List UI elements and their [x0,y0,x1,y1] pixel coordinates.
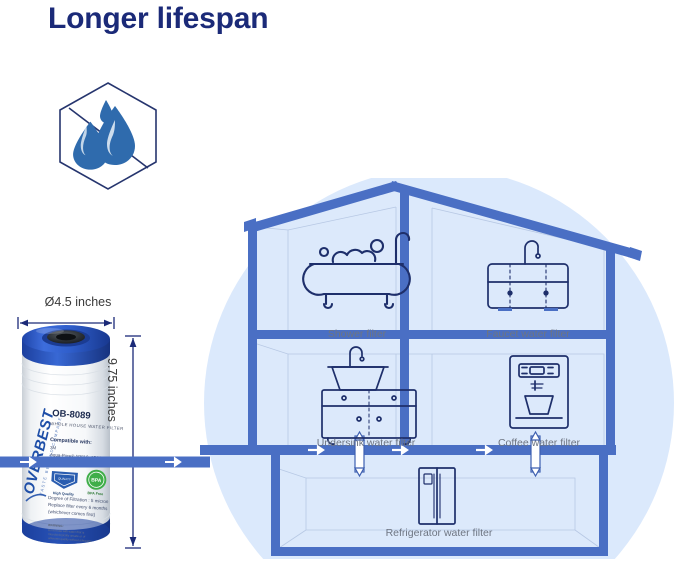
height-dimension-arrow [125,336,141,548]
diameter-label: Ø4.5 inches [18,295,138,309]
filter-cartridge-block: Ø4.5 inches 9.75 inches [0,295,175,559]
infographic-canvas: Longer lifespan Ø4.5 inches 9.75 inches [0,0,679,559]
height-label: 9.75 inches [105,358,119,422]
room-label-refrigerator: Refrigerator water filter [386,527,493,539]
room-label-undersink: Undersink water filter [317,437,416,449]
water-supply-pipe-left [0,455,210,469]
cartridge-cap [22,325,110,366]
water-drop-hexagon-icon [55,80,161,192]
page-title: Longer lifespan [48,2,268,36]
room-label-faucet: Faucet water filter [486,328,570,340]
room-label-coffee: Coffee water filter [498,437,581,449]
bpa-badge-mark: BPA [91,477,102,484]
cartridge-drawing: OVERBEST TASTE BEYOND COMPARE OB-8089 WH… [0,295,175,559]
compatible-line-0: 3M [50,445,57,450]
house-cutaway-diagram: Shower filter Faucet water filter [200,178,679,559]
room-label-shower: Shower filter [328,328,387,340]
